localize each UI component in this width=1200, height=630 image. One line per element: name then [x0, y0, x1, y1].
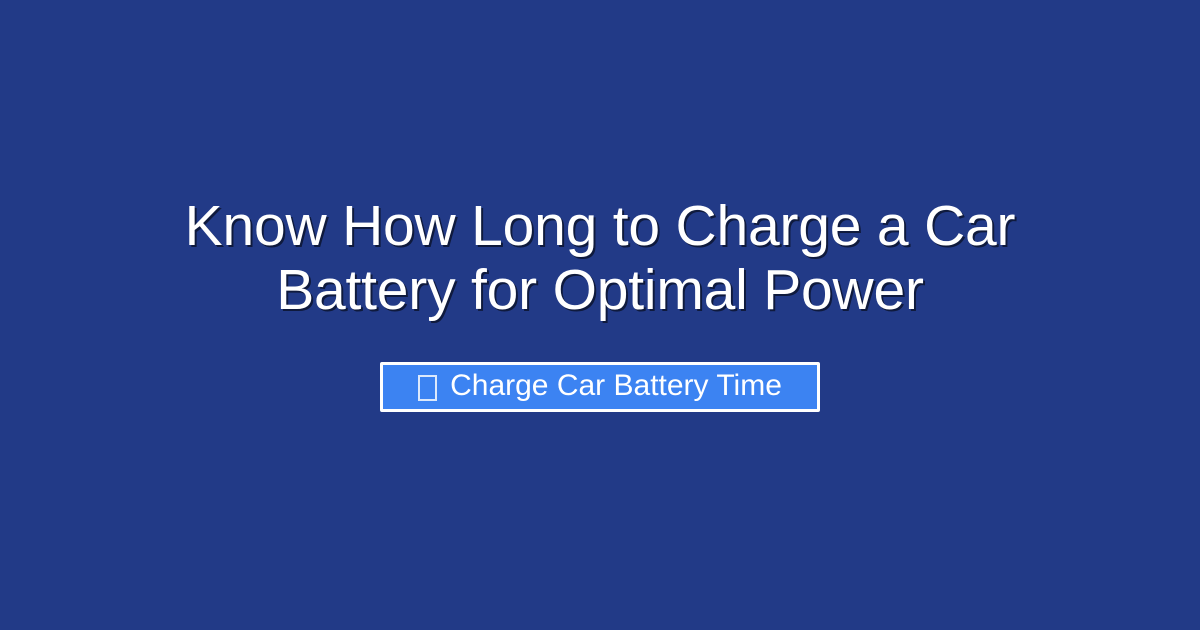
card-content: Know How Long to Charge a Car Battery fo… — [100, 194, 1100, 412]
page-title: Know How Long to Charge a Car Battery fo… — [120, 194, 1080, 322]
share-card: Know How Long to Charge a Car Battery fo… — [0, 0, 1200, 630]
cta-container: Charge Car Battery Time — [380, 362, 820, 412]
missing-glyph-box-icon — [418, 375, 437, 401]
cta-button-label: Charge Car Battery Time — [450, 371, 782, 401]
charge-car-battery-time-button[interactable]: Charge Car Battery Time — [380, 362, 820, 412]
